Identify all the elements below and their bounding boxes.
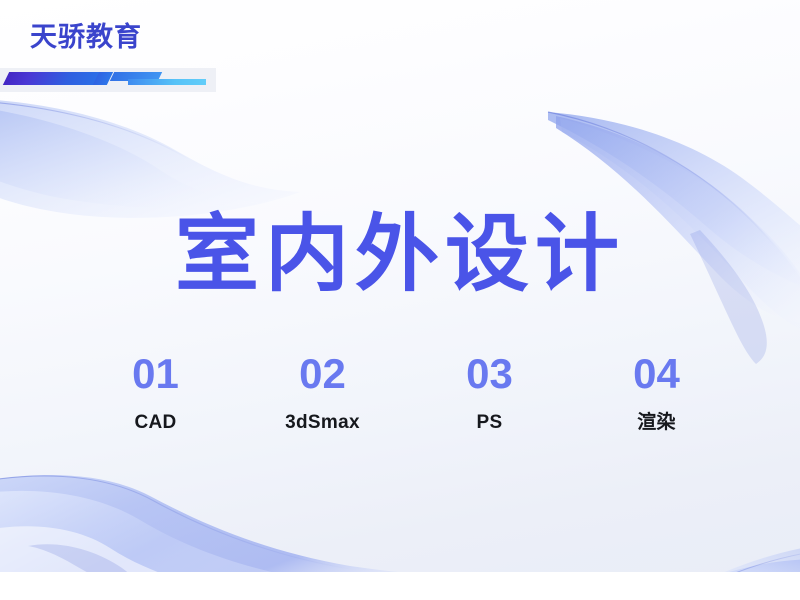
item-label: CAD xyxy=(72,413,239,432)
list-item: 02 3dSmax xyxy=(239,352,406,432)
list-item: 01 CAD xyxy=(72,352,239,432)
item-number: 02 xyxy=(239,352,406,397)
presentation-slide: 天骄教育 室内外设计 01 CAD 02 3dSmax 03 PS 04 渲染 xyxy=(0,0,800,572)
logo-text: 天骄教育 xyxy=(30,24,142,51)
slide-outer-margin xyxy=(0,572,800,600)
course-modules-list: 01 CAD 02 3dSmax 03 PS 04 渲染 xyxy=(72,352,744,432)
item-number: 03 xyxy=(406,352,573,397)
item-label: PS xyxy=(406,413,573,432)
brand-logo: 天骄教育 xyxy=(0,0,216,96)
item-label: 3dSmax xyxy=(239,413,406,432)
item-number: 01 xyxy=(72,352,239,397)
item-label: 渲染 xyxy=(573,413,740,432)
list-item: 03 PS xyxy=(406,352,573,432)
item-number: 04 xyxy=(573,352,740,397)
logo-stripe-cyan-tail-icon xyxy=(128,79,206,85)
page-title: 室内外设计 xyxy=(0,212,800,296)
list-item: 04 渲染 xyxy=(573,352,740,432)
